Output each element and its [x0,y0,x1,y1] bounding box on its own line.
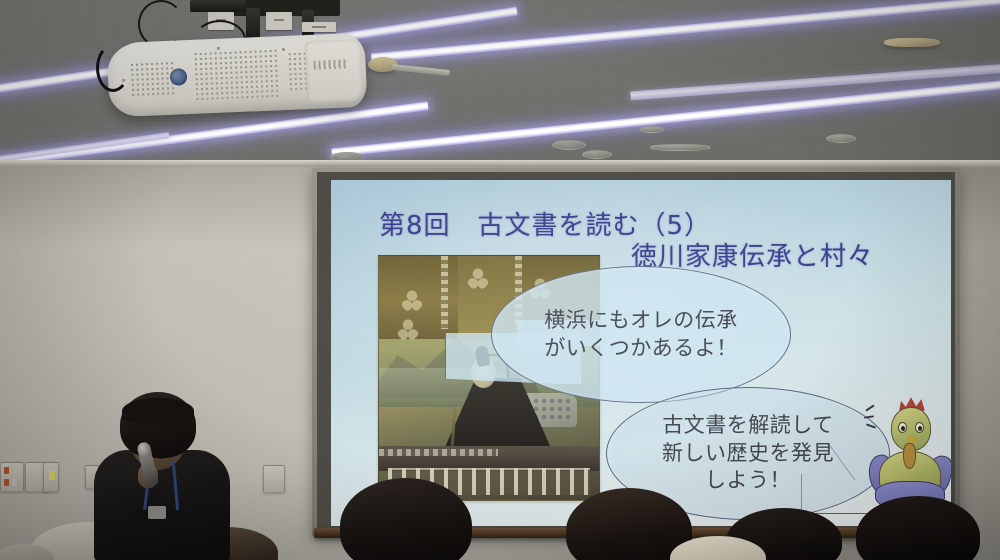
rooster-eye [915,422,924,433]
control-panel[interactable] [43,462,59,492]
rooster-wattle [903,443,916,469]
projector-lens [170,68,188,86]
tokugawa-crest-icon [397,319,419,341]
projector-side-panel [305,39,364,103]
wall-ceiling-trim [0,160,1000,167]
ceiling-projector [107,33,368,118]
bubble-line: 古文書を解読して [662,412,833,440]
portrait-tassel [441,256,448,329]
outlet-panel[interactable] [0,462,24,492]
speech-bubble-ieyasu: 横浜にもオレの伝承 がいくつかあるよ！ [491,266,791,403]
portrait-dais [379,446,599,470]
ceiling [0,0,1000,178]
bubble-line: がいくつかあるよ！ [544,335,738,363]
bubble-line: しよう！ [705,467,791,495]
projector-vent [193,48,281,102]
projector-brand-label [313,59,347,69]
bubble-line: 横浜にもオレの伝承 [544,307,738,335]
projector-power-cable [96,44,130,92]
wall-jack[interactable] [263,465,285,493]
tokugawa-crest-icon [401,290,423,312]
bubble-line: 新しい歴史を発見 [662,440,834,468]
projection-screen: 第8回 古文書を読む（5） 徳川家康伝承と村々 [331,180,951,526]
presenter-name-badge [148,506,166,519]
presenter-fringe [122,398,194,424]
sparkle-icon [865,403,887,429]
recessed-downlight [826,134,856,143]
recessed-downlight [650,144,710,151]
smoke-detector [884,38,940,47]
recessed-downlight [582,150,612,159]
recessed-downlight [640,126,664,133]
mount-label-tag [266,12,292,30]
mount-label-tag [302,22,336,32]
rooster-eye [898,422,907,433]
recessed-downlight [552,140,586,150]
lecture-room-scene: 第8回 古文書を読む（5） 徳川家康伝承と村々 [0,0,1000,560]
presenter-with-microphone [86,392,236,560]
